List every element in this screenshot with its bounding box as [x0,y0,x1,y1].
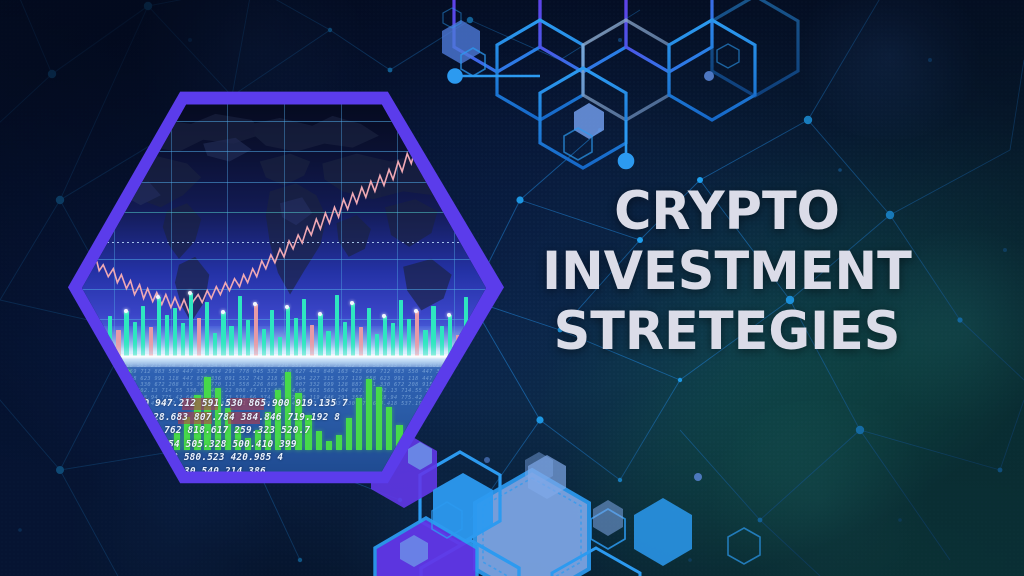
candlestick-bar [423,330,427,356]
candlestick-bar [221,312,225,355]
candlestick-bar [157,297,161,355]
candlestick-bar [440,326,444,356]
candlestick-bar [181,323,185,355]
volume-bar [114,385,120,450]
candlestick-bar [213,333,217,356]
volume-bar [83,438,89,450]
candlestick-bar [84,335,88,355]
hero-hexagon-chart: 374 27 402 918 563 213 774 119 802 334 6… [64,88,504,488]
candlestick-bar [375,334,379,356]
ticker-row-text: 437 874.520 947.212 591.530 865.900 919.… [85,398,348,409]
title-line-1: CRYPTO [521,182,934,242]
candlestick-bar [383,316,387,355]
candlestick-bar [326,331,330,355]
candlestick-peak-dot [350,301,354,305]
candlestick-peak-dot [124,309,128,313]
candlestick-bar [431,306,435,356]
title-line-3: STRETEGIES [521,302,934,362]
ticker-row: 569.561 882.762 818.617 259.323 520.7 [82,424,486,438]
candlestick-bar [141,306,145,356]
volume-bar [467,417,473,450]
ticker-row: 4.626 855.702 580.523 420.985 4 [82,451,486,465]
candlestick-bar [335,295,339,356]
candlestick-bar [270,310,274,356]
ticker-row-text: 569.561 882.762 818.617 259.323 520.7 [94,425,310,436]
volume-bar [457,395,463,450]
banner-canvas: 374 27 402 918 563 213 774 119 802 334 6… [0,0,1024,576]
candlestick-bar [286,307,290,356]
candlestick-peak-dot [447,313,451,317]
volume-bar [103,407,109,450]
candlestick-bar [359,327,363,355]
title-line-2: INVESTMENT [521,242,934,302]
candlestick-bar [318,314,322,356]
candlestick-bar [149,327,153,355]
page-title: CRYPTO INVESTMENT STRETEGIES [521,182,934,362]
candlestick-bar [205,302,209,356]
candlestick-bar [302,299,306,356]
candlestick-bar [124,311,128,356]
candlestick-bar [254,304,258,355]
candlestick-bar [173,308,177,355]
candlestick-series [82,288,486,356]
ticker-row-text: 54 182.923 428.683 807.784 384.846 719.1… [83,412,340,423]
candlestick-bar [399,300,403,355]
candlestick-peak-dot [318,312,322,316]
ticker-row: 93.886 451.454 505.328 500.410 399 [82,438,486,452]
candlestick-bar [197,318,201,355]
candlestick-bar [407,319,411,356]
volume-bar [477,433,483,450]
ticker-row-text: 93.886 451.454 505.328 500.410 399 [98,439,297,450]
candlestick-bar [367,308,371,355]
candlestick-bar [278,337,282,356]
horizon-glow-line [82,354,486,359]
candlestick-bar [351,303,355,356]
volume-bar [93,425,99,450]
candlestick-bar [238,296,242,356]
volume-bar [447,374,453,450]
candlestick-bar [229,326,233,356]
candlestick-bar [391,323,395,355]
candlestick-bar [189,293,193,355]
candlestick-bar [133,322,137,356]
candlestick-bar [343,322,347,356]
candlestick-bar [415,311,419,356]
candlestick-bar [294,318,298,356]
candlestick-bar [165,315,169,356]
ticker-row-text: 4.626 855.702 580.523 420.985 4 [102,452,283,463]
candlestick-bar [310,325,314,356]
candlestick-bar [262,329,266,356]
candlestick-bar [246,320,250,355]
